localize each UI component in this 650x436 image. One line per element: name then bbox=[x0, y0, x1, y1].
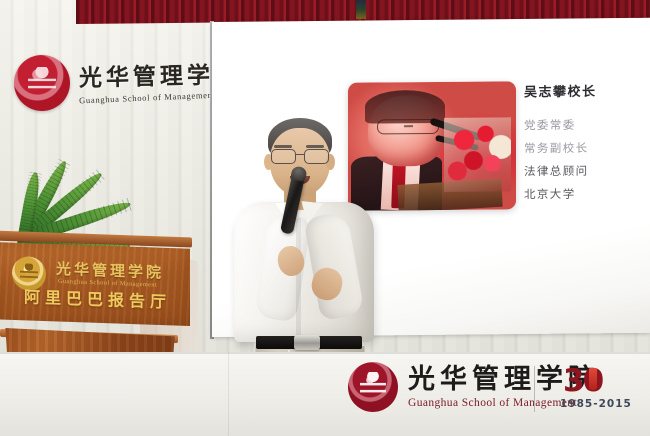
banner-pku-seal-icon bbox=[348, 362, 398, 412]
slide-line-3: 法律总顾问 bbox=[524, 163, 589, 180]
curtain-gap bbox=[356, 0, 366, 19]
glasses-lens-left bbox=[271, 149, 296, 164]
slide-title: 吴志攀校长 bbox=[524, 81, 597, 101]
slide-line-2: 常务副校长 bbox=[524, 140, 589, 157]
glasses-icon bbox=[271, 149, 329, 162]
slide-bullet-list: 党委常委 常务副校长 法律总顾问 北京大学 bbox=[524, 117, 589, 210]
speaker-belt-buckle bbox=[294, 335, 320, 350]
banner-divider bbox=[534, 366, 535, 412]
pku-seal-icon bbox=[14, 55, 70, 111]
slide-line-4: 北京大学 bbox=[524, 186, 589, 203]
glasses-bridge bbox=[295, 154, 305, 155]
banner-anniversary-number: 30 bbox=[563, 366, 602, 397]
speaker-eyebrow-right bbox=[306, 145, 324, 148]
speaker-eyebrow-left bbox=[274, 145, 292, 148]
slide-line-1: 党委常委 bbox=[524, 117, 589, 134]
glasses-lens-right bbox=[304, 149, 329, 164]
slide-photo-flowers bbox=[444, 117, 511, 192]
banner-top-edge bbox=[0, 352, 650, 354]
lecture-hall-photo: 光华管理学院 Guanghua School of Management 吴志攀… bbox=[0, 0, 650, 436]
speaker-shirt-placket bbox=[296, 218, 301, 340]
wall-signage: 光华管理学院 Guanghua School of Management bbox=[14, 55, 241, 111]
podium-hall-name: 阿里巴巴报告厅 bbox=[24, 283, 171, 312]
banner-panel-seam bbox=[228, 352, 229, 436]
banner-anniversary-years: 1985-2015 bbox=[560, 398, 632, 410]
anniversary-scroll-icon bbox=[589, 368, 597, 390]
